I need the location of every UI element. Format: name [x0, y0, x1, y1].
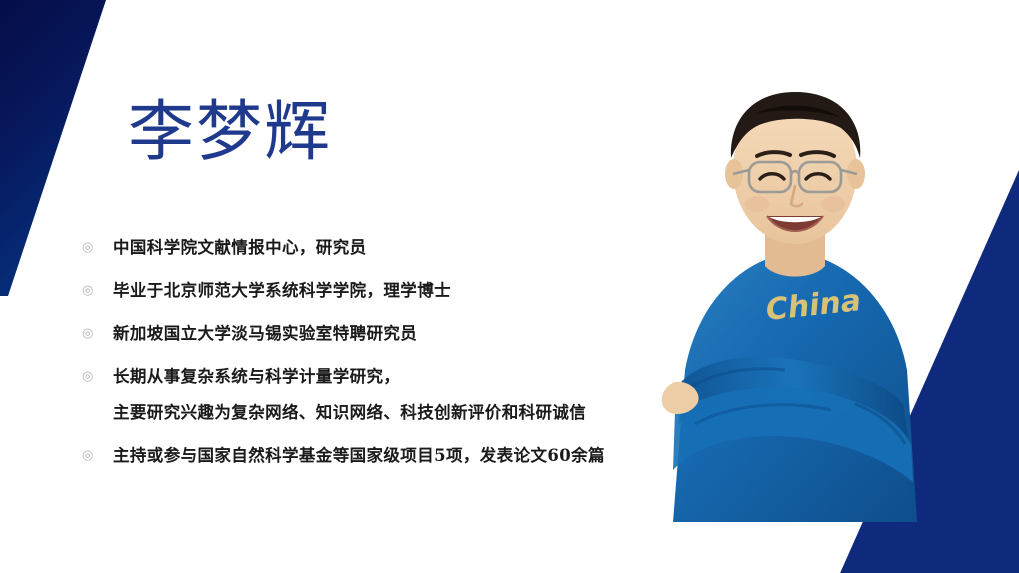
list-item-line: 中国科学院文献情报中心，研究员: [113, 234, 698, 261]
list-item-body: 长期从事复杂系统与科学计量学研究， 主要研究兴趣为复杂网络、知识网络、科技创新评…: [113, 363, 698, 426]
bio-bullet-list: ◎ 中国科学院文献情报中心，研究员 ◎ 毕业于北京师范大学系统科学学院，理学博士…: [78, 234, 698, 469]
list-item-body: 毕业于北京师范大学系统科学学院，理学博士: [113, 277, 698, 304]
bullet-marker-icon: ◎: [78, 363, 113, 390]
sweatshirt-logo-icon: China: [764, 283, 862, 328]
page-title: 李梦辉: [128, 96, 332, 167]
bullet-marker-icon: ◎: [78, 442, 113, 469]
list-item-line-continued: 主要研究兴趣为复杂网络、知识网络、科技创新评价和科研诚信: [113, 399, 698, 426]
list-item: ◎ 毕业于北京师范大学系统科学学院，理学博士: [78, 277, 698, 304]
list-item: ◎ 长期从事复杂系统与科学计量学研究， 主要研究兴趣为复杂网络、知识网络、科技创…: [78, 363, 698, 426]
bullet-marker-icon: ◎: [78, 234, 113, 261]
list-item-line: 主持或参与国家自然科学基金等国家级项目5项，发表论文60余篇: [113, 442, 698, 469]
face: [725, 92, 865, 244]
list-item-body: 主持或参与国家自然科学基金等国家级项目5项，发表论文60余篇: [113, 442, 698, 469]
glasses-icon: [733, 162, 857, 192]
list-item-body: 中国科学院文献情报中心，研究员: [113, 234, 698, 261]
list-item: ◎ 新加坡国立大学淡马锡实验室特聘研究员: [78, 320, 698, 347]
list-item-line: 长期从事复杂系统与科学计量学研究，: [113, 363, 698, 390]
svg-text:China: China: [764, 283, 862, 328]
list-item-body: 新加坡国立大学淡马锡实验室特聘研究员: [113, 320, 698, 347]
sweatshirt: China: [662, 252, 917, 522]
list-item: ◎ 中国科学院文献情报中心，研究员: [78, 234, 698, 261]
slide-canvas: 李梦辉 C: [0, 0, 1019, 573]
list-item: ◎ 主持或参与国家自然科学基金等国家级项目5项，发表论文60余篇: [78, 442, 698, 469]
list-item-line: 毕业于北京师范大学系统科学学院，理学博士: [113, 277, 698, 304]
list-item-line: 新加坡国立大学淡马锡实验室特聘研究员: [113, 320, 698, 347]
bullet-marker-icon: ◎: [78, 320, 113, 347]
bullet-marker-icon: ◎: [78, 277, 113, 304]
right-navy-wedge: [819, 140, 1019, 573]
